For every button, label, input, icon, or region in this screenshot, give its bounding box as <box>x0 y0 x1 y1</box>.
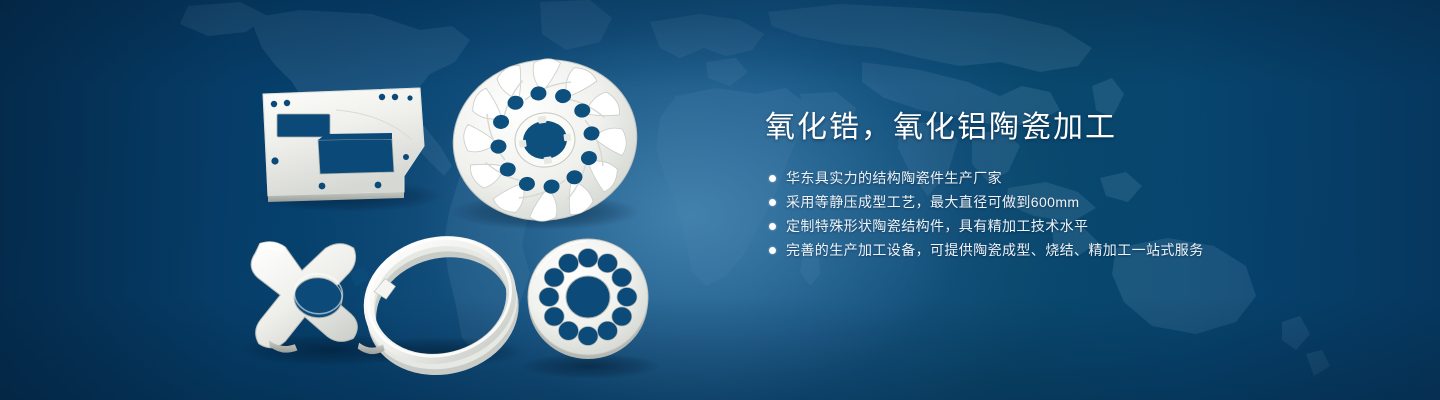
ceramic-products-banner: 氧化锆，氧化铝陶瓷加工 华东具实力的结构陶瓷件生产厂家 采用等静压成型工艺，最大… <box>0 0 1440 400</box>
list-item-label: 华东具实力的结构陶瓷件生产厂家 <box>786 170 1002 186</box>
bullet-dot-icon <box>769 223 776 230</box>
list-item: 华东具实力的结构陶瓷件生产厂家 <box>765 166 1385 190</box>
list-item: 定制特殊形状陶瓷结构件，具有精加工技术水平 <box>765 214 1385 238</box>
list-item: 完善的生产加工设备，可提供陶瓷成型、烧结、精加工一站式服务 <box>765 238 1385 262</box>
bullet-dot-icon <box>769 247 776 254</box>
ceramic-products-photo <box>0 0 720 400</box>
list-item: 采用等静压成型工艺，最大直径可做到600mm <box>765 190 1385 214</box>
perforated-ceramic-flange <box>528 239 648 359</box>
banner-copy: 氧化锆，氧化铝陶瓷加工 华东具实力的结构陶瓷件生产厂家 采用等静压成型工艺，最大… <box>765 108 1385 262</box>
bullet-dot-icon <box>769 175 776 182</box>
rectangular-ceramic-plate <box>263 88 424 202</box>
page-title: 氧化锆，氧化铝陶瓷加工 <box>765 108 1385 148</box>
feature-list: 华东具实力的结构陶瓷件生产厂家 采用等静压成型工艺，最大直径可做到600mm 定… <box>765 166 1385 262</box>
list-item-label: 完善的生产加工设备，可提供陶瓷成型、烧结、精加工一站式服务 <box>786 242 1204 258</box>
bullet-dot-icon <box>769 199 776 206</box>
list-item-label: 采用等静压成型工艺，最大直径可做到600mm <box>786 194 1079 210</box>
list-item-label: 定制特殊形状陶瓷结构件，具有精加工技术水平 <box>786 218 1088 234</box>
